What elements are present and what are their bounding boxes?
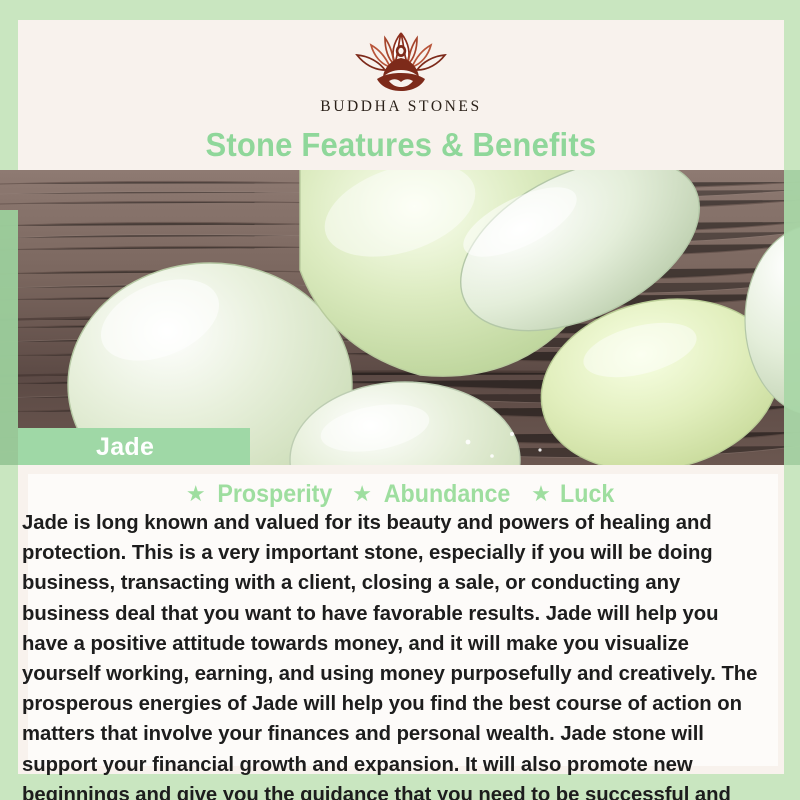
benefits-row: ★ Prosperity ★ Abundance ★ Luck	[18, 478, 784, 510]
star-icon: ★	[186, 483, 206, 505]
brand-logo: BUDDHA STONES	[320, 29, 481, 116]
benefit-label: Prosperity	[217, 480, 332, 509]
page-title: Stone Features & Benefits	[206, 126, 597, 164]
lotus-meditation-icon	[341, 29, 461, 95]
benefit-item: ★ Abundance	[352, 480, 515, 509]
brand-name: BUDDHA STONES	[320, 98, 481, 116]
stone-description: Jade is long known and valued for its be…	[22, 508, 767, 800]
benefit-item: ★ Luck	[531, 480, 616, 509]
benefit-label: Luck	[560, 480, 614, 509]
brand-header: BUDDHA STONES	[18, 20, 784, 120]
decorative-band-top-right	[220, 0, 800, 20]
title-bar: Stone Features & Benefits	[18, 120, 784, 170]
stone-name-chip: Jade	[18, 428, 250, 466]
photo-accent-left	[0, 210, 18, 465]
photo-accent-right	[784, 170, 800, 465]
star-icon: ★	[531, 483, 551, 505]
benefit-item: ★ Prosperity	[186, 480, 336, 509]
benefit-label: Abundance	[384, 480, 511, 509]
stone-name: Jade	[96, 433, 154, 462]
poster-root: BUDDHA STONES Stone Features & Benefits	[0, 0, 800, 800]
stone-photo-illustration	[0, 170, 800, 465]
lower-accent-right	[784, 465, 800, 585]
stone-photo	[0, 170, 800, 465]
star-icon: ★	[352, 483, 372, 505]
